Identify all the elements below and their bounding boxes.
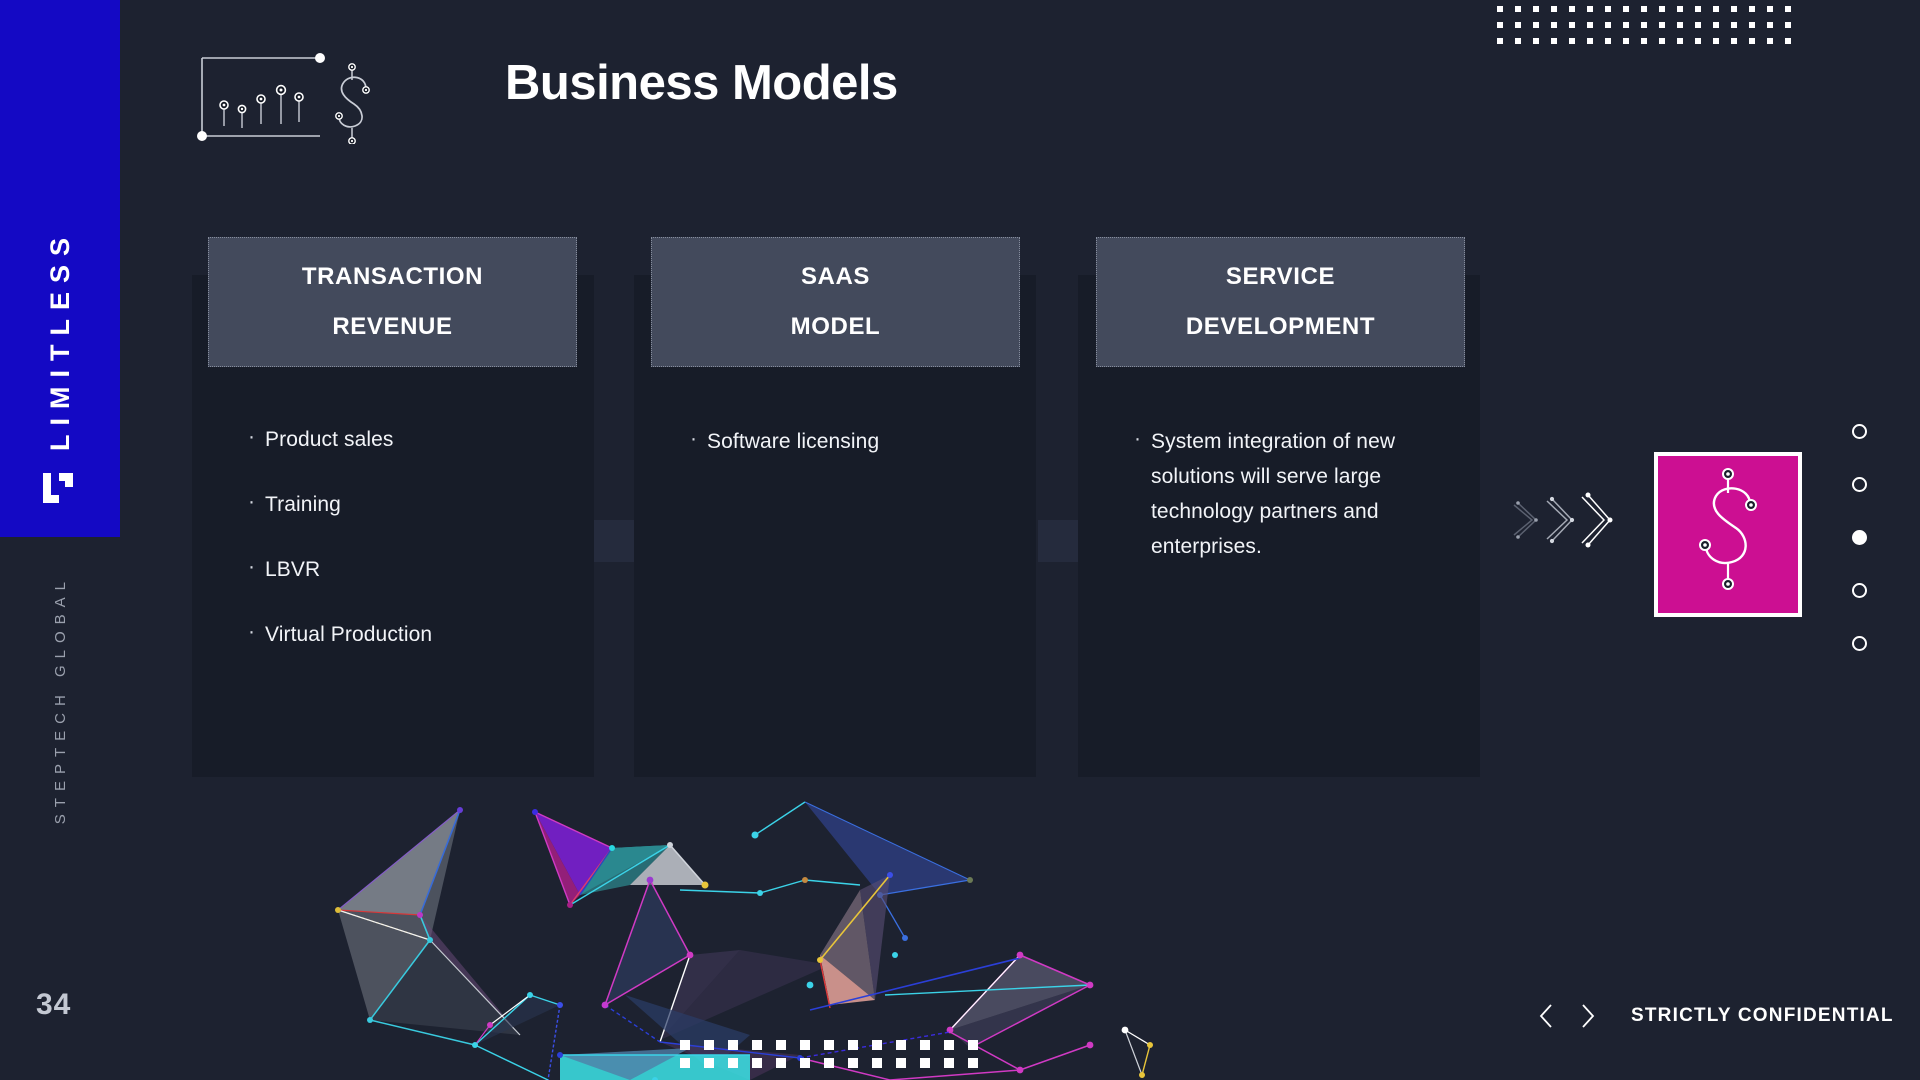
triple-chevron-right-icon (1510, 485, 1620, 555)
grid-dot (776, 1058, 786, 1068)
grid-dot (752, 1058, 762, 1068)
bullet-dot-icon: · (1134, 424, 1151, 454)
grid-dot (704, 1058, 714, 1068)
grid-dot (680, 1058, 690, 1068)
left-rail: LIMITLESS STEPTECH GLOBAL 34 (0, 0, 120, 1080)
grid-dot (728, 1040, 738, 1050)
bullet-dot-icon: · (248, 552, 265, 582)
grid-dot (728, 1058, 738, 1068)
bullet-dot-icon: · (248, 617, 265, 647)
card-heading-line-1a: TRANSACTION (302, 252, 483, 302)
list-item: · Product sales (248, 422, 588, 457)
card-heading-line-1b: REVENUE (332, 302, 452, 352)
chevron-left-icon (1538, 1003, 1554, 1029)
card-header-1[interactable]: TRANSACTION REVENUE (208, 237, 577, 367)
card-gap-accent-1 (594, 520, 634, 562)
card-header-2[interactable]: SAAS MODEL (651, 237, 1020, 367)
list-item: · Training (248, 487, 588, 522)
grid-dot (752, 1040, 762, 1050)
grid-dot (872, 1040, 882, 1050)
bullet-dot-icon: · (248, 487, 265, 517)
grid-dot (896, 1058, 906, 1068)
prev-slide-button[interactable] (1525, 995, 1567, 1037)
grid-dot (824, 1040, 834, 1050)
grid-dot (776, 1040, 786, 1050)
list-item: · LBVR (248, 552, 588, 587)
card-bullets-1: · Product sales · Training · LBVR · Virt… (248, 422, 588, 682)
dot-grid-bottom (680, 1040, 1000, 1080)
grid-dot (824, 1058, 834, 1068)
grid-dot (920, 1040, 930, 1050)
card-bullets-2: · Software licensing (690, 424, 1030, 489)
card-heading-line-2b: MODEL (791, 302, 881, 352)
page-number: 34 (36, 988, 71, 1022)
next-slide-button[interactable] (1567, 995, 1609, 1037)
chevron-right-icon (1580, 1003, 1596, 1029)
grid-dot (944, 1040, 954, 1050)
list-item: · System integration of new solutions wi… (1134, 424, 1474, 564)
limitless-arrow-logo-icon (39, 469, 81, 511)
pager-dot-3[interactable] (1852, 530, 1867, 545)
bullet-text: Training (265, 487, 341, 522)
bullet-text: Software licensing (707, 424, 879, 459)
grid-dot (896, 1040, 906, 1050)
slide-root: LIMITLESS STEPTECH GLOBAL 34 (0, 0, 1920, 1080)
brand-block: LIMITLESS (0, 0, 120, 537)
card-heading-line-2a: SAAS (801, 252, 870, 302)
pager-dot-5[interactable] (1852, 636, 1867, 651)
grid-dot (968, 1058, 978, 1068)
confidential-label: STRICTLY CONFIDENTIAL (1631, 1005, 1894, 1027)
dollar-highlight-tile[interactable] (1654, 452, 1802, 617)
card-heading-line-3a: SERVICE (1226, 252, 1335, 302)
grid-dot (968, 1040, 978, 1050)
bullet-dot-icon: · (690, 424, 707, 454)
grid-dot (800, 1058, 810, 1068)
low-poly-network-graphic (330, 780, 1200, 1080)
bullet-text: LBVR (265, 552, 320, 587)
brand-name: LIMITLESS (47, 229, 74, 451)
card-heading-line-3b: DEVELOPMENT (1186, 302, 1375, 352)
brand-sub-label: STEPTECH GLOBAL (52, 575, 69, 824)
grid-dot (704, 1040, 714, 1050)
card-gap-accent-2 (1038, 520, 1078, 562)
grid-dot (944, 1058, 954, 1068)
grid-dot (800, 1040, 810, 1050)
card-header-3[interactable]: SERVICE DEVELOPMENT (1096, 237, 1465, 367)
brand-sub-label-wrap: STEPTECH GLOBAL (0, 575, 120, 975)
grid-dot (848, 1040, 858, 1050)
footer-nav: STRICTLY CONFIDENTIAL (1525, 995, 1894, 1037)
grid-dot (680, 1040, 690, 1050)
grid-dot (920, 1058, 930, 1068)
pager-dot-4[interactable] (1852, 583, 1867, 598)
card-bullets-3: · System integration of new solutions wi… (1134, 424, 1474, 594)
dollar-sign-icon (1658, 456, 1798, 613)
bullet-text: System integration of new solutions will… (1151, 424, 1474, 564)
pager-dot-2[interactable] (1852, 477, 1867, 492)
list-item: · Virtual Production (248, 617, 588, 652)
pager-dot-1[interactable] (1852, 424, 1867, 439)
grid-dot (848, 1058, 858, 1068)
pager-dots[interactable] (1852, 424, 1876, 654)
bullet-text: Virtual Production (265, 617, 432, 652)
bullet-dot-icon: · (248, 422, 265, 452)
grid-dot (872, 1058, 882, 1068)
bullet-text: Product sales (265, 422, 394, 457)
list-item: · Software licensing (690, 424, 1030, 459)
